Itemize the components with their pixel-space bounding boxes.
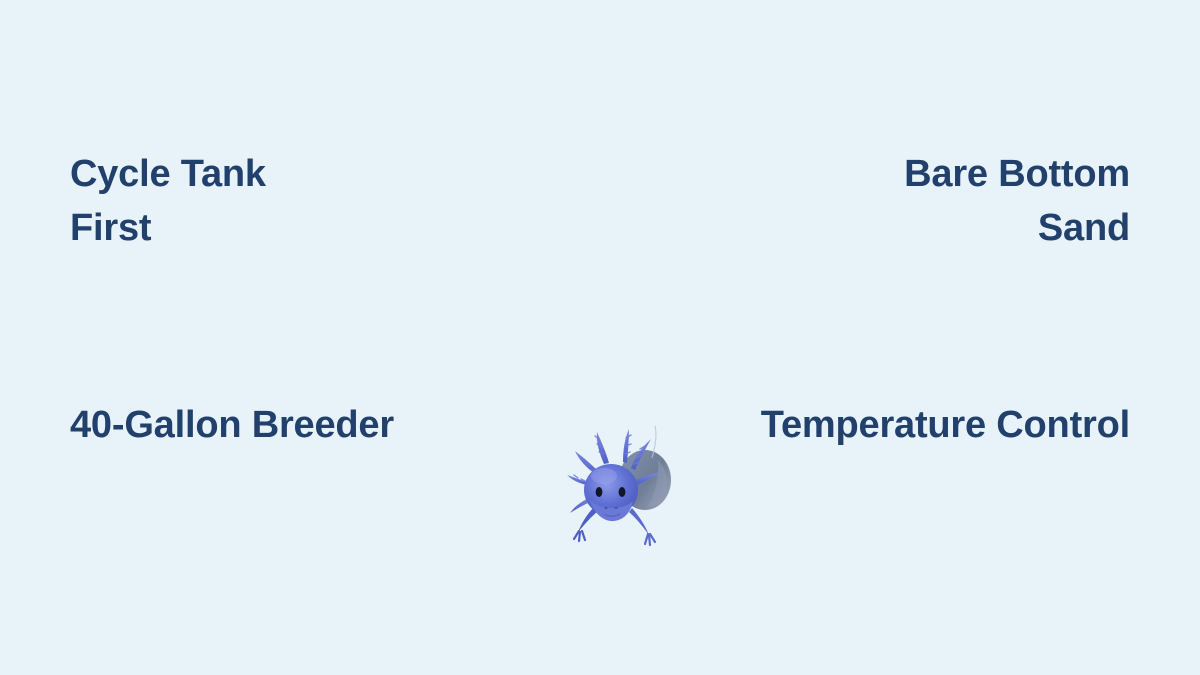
label-temperature-control: Temperature Control xyxy=(660,398,1130,452)
axolotl-image xyxy=(566,418,686,556)
axolotl-icon xyxy=(566,418,686,556)
axolotl-eye-left xyxy=(596,487,603,497)
label-cycle-tank-first: Cycle Tank First xyxy=(70,147,490,255)
label-bare-bottom-sand: Bare Bottom Sand xyxy=(670,147,1130,255)
axolotl-eye-right xyxy=(619,487,626,497)
infographic-canvas: Cycle Tank First Bare Bottom Sand 40-Gal… xyxy=(0,0,1200,675)
label-40-gallon-breeder: 40-Gallon Breeder xyxy=(70,398,540,452)
